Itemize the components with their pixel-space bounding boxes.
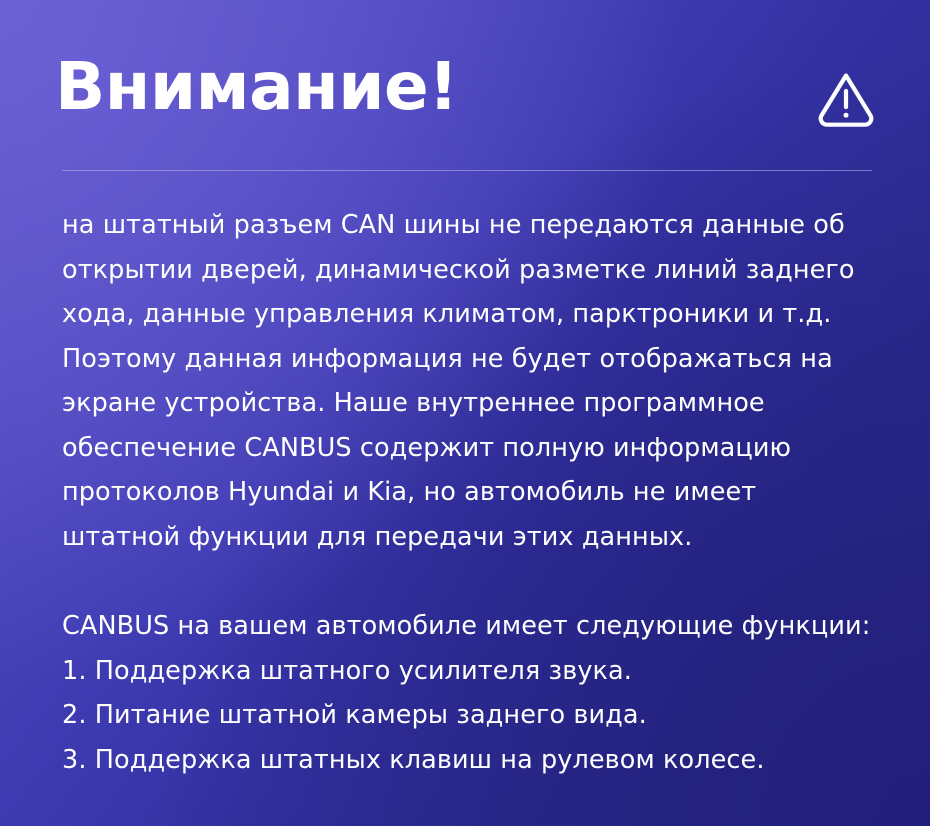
banner-content: на штатный разъем CAN шины не передаются… xyxy=(62,203,880,782)
header-divider xyxy=(62,170,872,171)
list-item: 1. Поддержка штатного усилителя звука. xyxy=(62,649,880,694)
list-item: 2. Питание штатной камеры заднего вида. xyxy=(62,693,880,738)
list-item: 3. Поддержка штатных клавиш на рулевом к… xyxy=(62,738,880,783)
functions-list: 1. Поддержка штатного усилителя звука. 2… xyxy=(62,649,880,783)
banner-header: Внимание! xyxy=(0,0,930,168)
warning-banner: Внимание! на штатный разъем CAN шины не … xyxy=(0,0,930,826)
page-title: Внимание! xyxy=(55,48,458,126)
functions-list-intro: CANBUS на вашем автомобиле имеет следующ… xyxy=(62,604,880,649)
paragraph-spacer xyxy=(62,559,880,604)
warning-paragraph: на штатный разъем CAN шины не передаются… xyxy=(62,203,880,559)
warning-triangle-icon xyxy=(815,66,877,128)
